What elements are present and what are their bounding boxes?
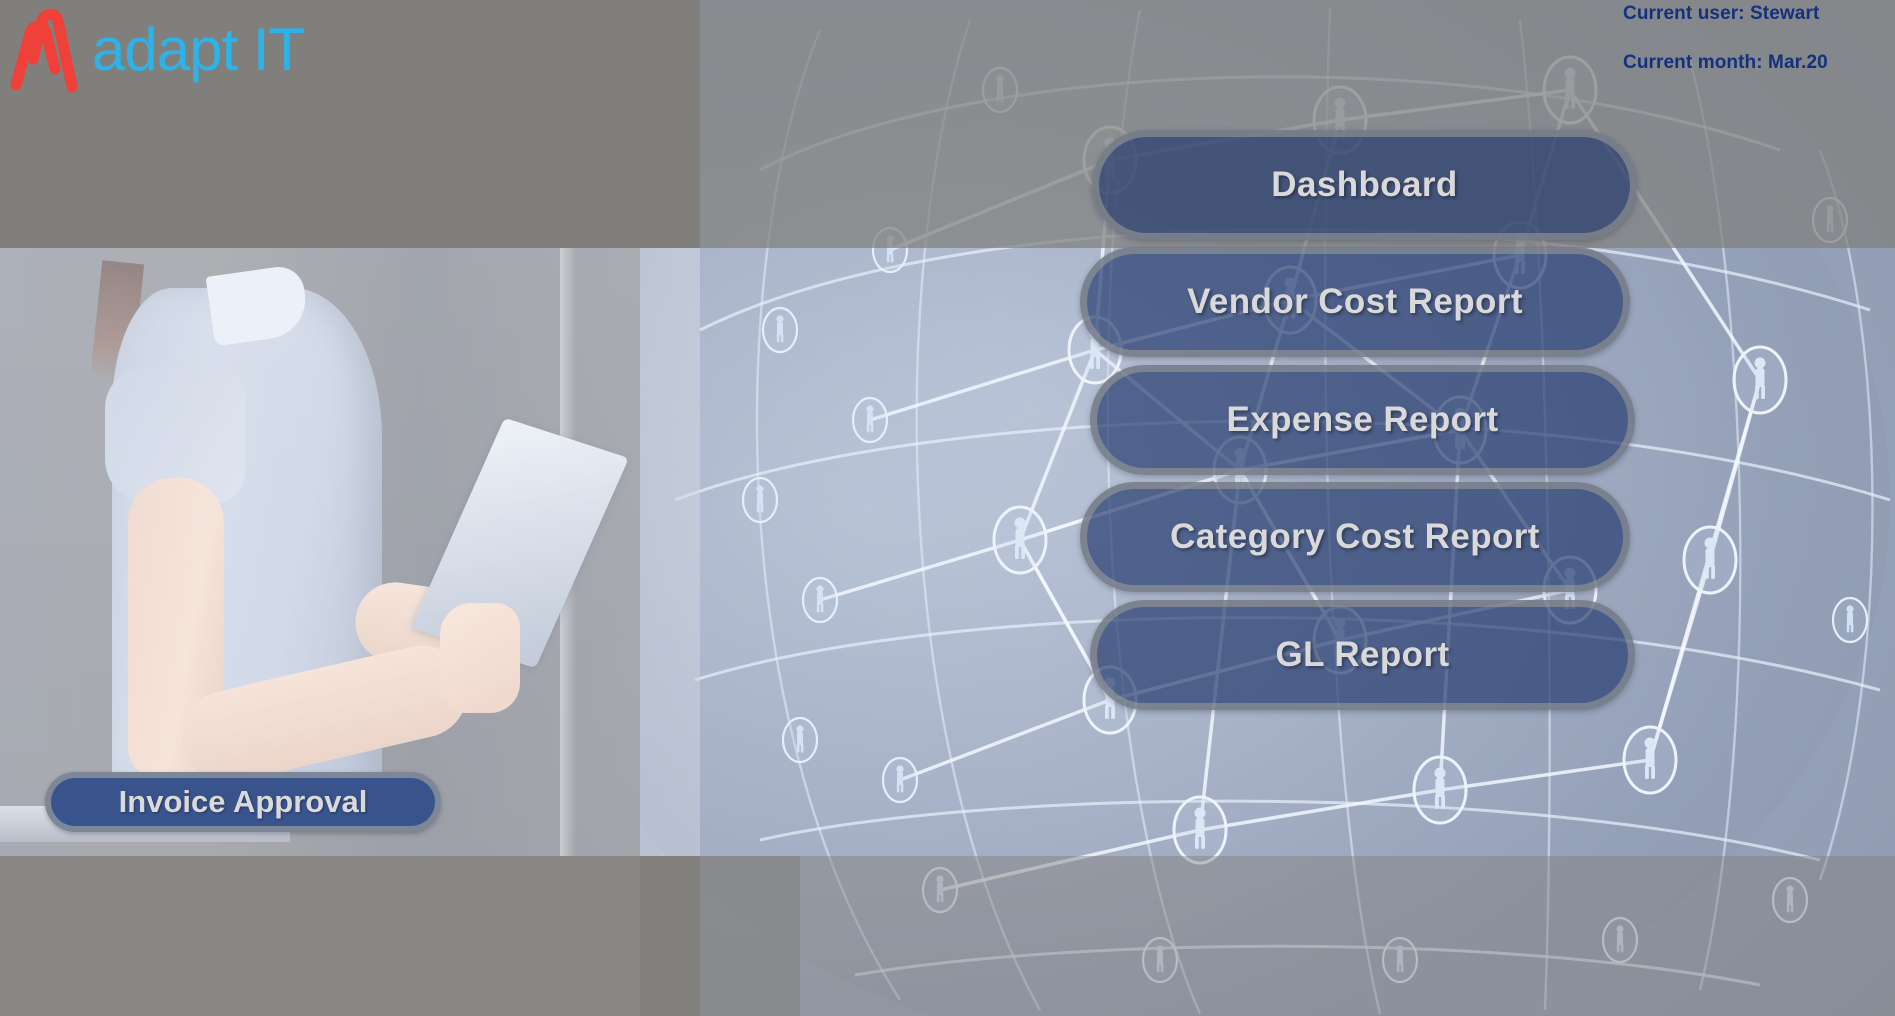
brand-logo[interactable]: adapt IT xyxy=(6,2,366,98)
menu-button-category-cost-report[interactable]: Category Cost Report xyxy=(1080,482,1630,592)
brand-name: adapt IT xyxy=(92,20,304,80)
menu-label-expense-report: Expense Report xyxy=(1226,400,1498,440)
menu-button-dashboard[interactable]: Dashboard xyxy=(1092,130,1637,240)
menu-button-expense-report[interactable]: Expense Report xyxy=(1090,365,1635,475)
main-menu: Dashboard Vendor Cost Report Expense Rep… xyxy=(1080,130,1640,820)
menu-button-gl-report[interactable]: GL Report xyxy=(1090,600,1635,710)
menu-label-category-cost-report: Category Cost Report xyxy=(1170,517,1540,557)
app-root: adapt IT Current user: Stewart Current m… xyxy=(0,0,1895,1016)
overlay-veil-bottom-right xyxy=(640,856,1895,1016)
invoice-approval-button[interactable]: Invoice Approval xyxy=(45,772,441,832)
overlay-band-bottom-left xyxy=(0,856,700,1016)
background-woman-tablet-image xyxy=(0,248,700,856)
current-month-label: Current month: Mar.20 xyxy=(1623,52,1828,74)
adapt-it-logo-mark-icon xyxy=(6,7,82,93)
overlay-veil-bottom-sliver xyxy=(640,856,800,1016)
menu-button-vendor-cost-report[interactable]: Vendor Cost Report xyxy=(1080,247,1630,357)
menu-label-dashboard: Dashboard xyxy=(1271,165,1457,205)
menu-label-gl-report: GL Report xyxy=(1275,635,1449,675)
menu-label-vendor-cost-report: Vendor Cost Report xyxy=(1187,282,1523,322)
photo-color-tint xyxy=(0,248,700,856)
invoice-approval-label: Invoice Approval xyxy=(119,784,368,820)
current-user-label: Current user: Stewart xyxy=(1623,3,1819,25)
